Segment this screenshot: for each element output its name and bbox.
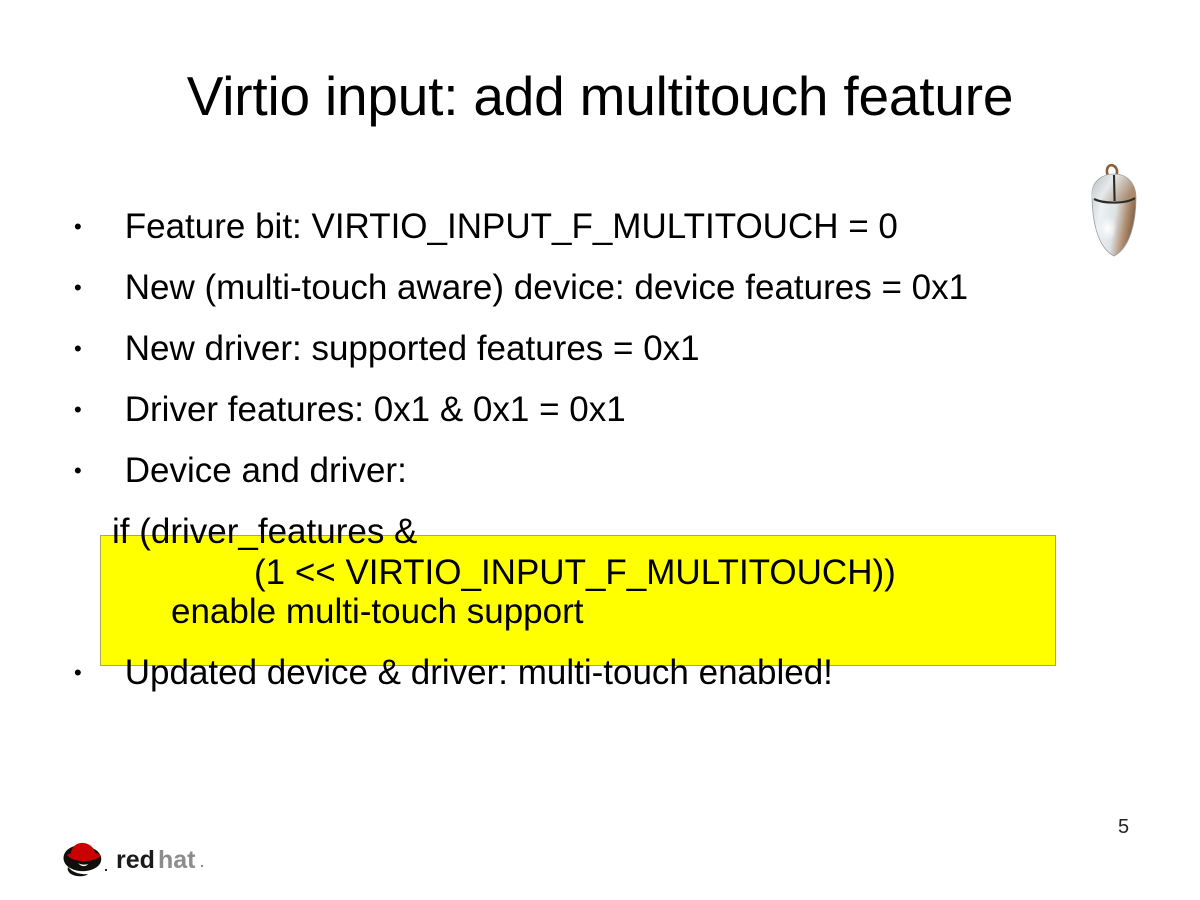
list-item-label: Driver features: 0x1 & 0x1 = 0x1 [125,389,626,431]
code-line-enable: enable multi-touch support [171,592,583,632]
page-number: 5 [1118,816,1158,839]
bullet-marker: • [74,389,115,431]
list-item-label: New driver: supported features = 0x1 [125,328,700,370]
list-item: • Updated device & driver: multi-touch e… [74,652,833,694]
bullet-marker: • [74,267,115,309]
list-item: • New (multi-touch aware) device: device… [74,267,968,309]
bullet-marker: • [74,328,115,370]
slide-body: • Feature bit: VIRTIO_INPUT_F_MULTITOUCH… [0,0,1200,900]
shadowman-glyph [64,843,108,876]
list-item-label: Feature bit: VIRTIO_INPUT_F_MULTITOUCH =… [125,206,898,248]
bullet-marker: • [74,450,115,492]
list-item: • Driver features: 0x1 & 0x1 = 0x1 [74,389,626,431]
list-item: • New driver: supported features = 0x1 [74,328,700,370]
list-item-label: New (multi-touch aware) device: device f… [125,267,968,309]
bullet-marker: • [74,206,115,248]
bullet-marker: • [74,652,115,694]
list-item: • Feature bit: VIRTIO_INPUT_F_MULTITOUCH… [74,206,898,248]
logo-word-red: red [116,846,155,874]
slide-canvas: Virtio input: add multitouch feature [0,0,1200,900]
list-item-label: Updated device & driver: multi-touch ena… [125,652,833,694]
redhat-logo: red hat [58,834,210,878]
logo-word-hat: hat [158,846,196,874]
code-line-condition: (1 << VIRTIO_INPUT_F_MULTITOUCH)) [254,553,896,593]
list-item-label: Device and driver: [125,450,407,492]
code-line-if: if (driver_features & [112,512,417,552]
list-item: • Device and driver: [74,450,407,492]
